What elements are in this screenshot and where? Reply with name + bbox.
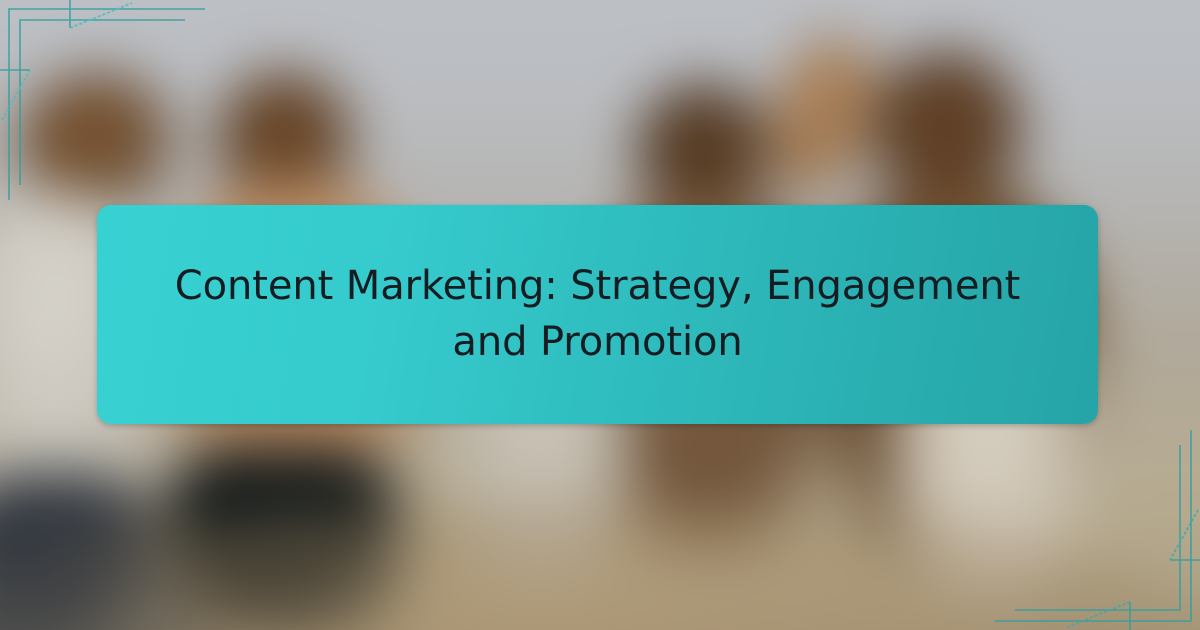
title-banner: Content Marketing: Strategy, Engagement … (97, 205, 1098, 424)
hero-card: Content Marketing: Strategy, Engagement … (0, 0, 1200, 630)
page-title: Content Marketing: Strategy, Engagement … (149, 259, 1046, 369)
